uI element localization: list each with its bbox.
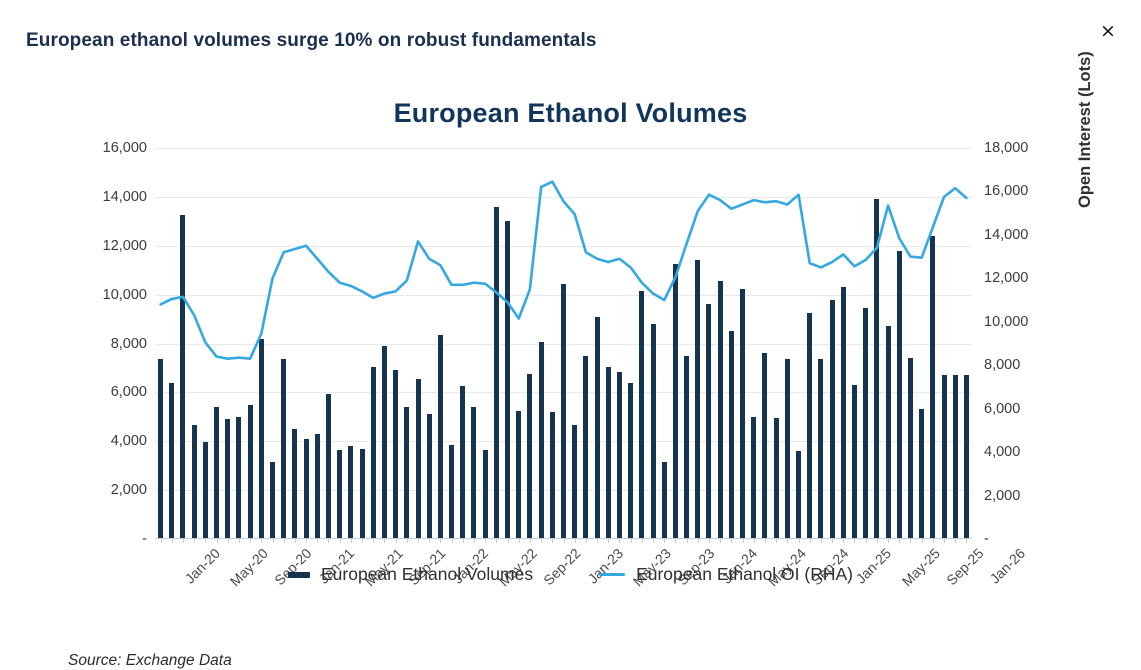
open-interest-line [161,182,967,359]
x-axis-tickmark [474,539,475,543]
y-axis-right-label: Open Interest (Lots) [1076,51,1095,208]
x-axis-tickmark [720,539,721,543]
x-axis-tickmark [564,539,565,543]
close-icon[interactable]: × [1095,18,1121,44]
y-axis-right-tick: 2,000 [984,489,1054,504]
y-axis-right-tick: 4,000 [984,445,1054,460]
x-axis-tickmark [866,539,867,543]
x-axis-tickmark [799,539,800,543]
x-axis-tickmark [362,539,363,543]
x-axis-tickmark [843,539,844,543]
source-note: Source: Exchange Data [68,652,232,670]
x-axis-tickmark [530,539,531,543]
x-axis-tickmark [664,539,665,543]
x-axis-tickmark [172,539,173,543]
x-axis-tickmark [396,539,397,543]
x-axis-tickmark [328,539,329,543]
y-axis-left-tick: 12,000 [77,239,147,254]
x-axis-tickmark [888,539,889,543]
legend-label-open-interest: European Ethanol OI (RHA) [636,564,853,585]
x-axis-tickmark [452,539,453,543]
chart-card: European Ethanol Volumes Total Volume Pe… [0,72,1141,632]
x-axis-tickmark [407,539,408,543]
legend-bar-swatch-icon [288,572,310,578]
popup-header: European ethanol volumes surge 10% on ro… [0,0,1141,72]
x-axis-tickmark [519,539,520,543]
x-axis-tickmark [508,539,509,543]
x-axis-tickmark [284,539,285,543]
x-axis-tickmark [899,539,900,543]
x-axis-tickmark [485,539,486,543]
y-axis-right-tick: 8,000 [984,358,1054,373]
x-axis-tickmark [743,539,744,543]
x-axis-tickmark [463,539,464,543]
x-axis-tickmark [373,539,374,543]
x-axis-tickmark [675,539,676,543]
y-axis-left-tick: 8,000 [77,337,147,352]
y-axis-left-tick: 2,000 [77,483,147,498]
x-axis-tickmark [228,539,229,543]
x-axis-tickmark [597,539,598,543]
x-axis-tickmark [631,539,632,543]
y-axis-right-tick: 12,000 [984,271,1054,286]
x-axis-tickmark [250,539,251,543]
x-axis-tickmark [429,539,430,543]
x-axis-tickmark [306,539,307,543]
x-axis-tickmark [183,539,184,543]
x-axis-tickmark [687,539,688,543]
x-axis-tickmark [496,539,497,543]
x-axis-tickmark [810,539,811,543]
x-axis-tickmark [709,539,710,543]
line-series [155,148,972,539]
y-axis-left-tick: 4,000 [77,434,147,449]
y-axis-right-tick: 14,000 [984,228,1054,243]
x-axis-tickmark [552,539,553,543]
y-axis-right-tick: 10,000 [984,315,1054,330]
x-axis-tickmark [608,539,609,543]
x-axis-tickmark [765,539,766,543]
chart-legend: European Ethanol Volumes European Ethano… [0,564,1141,585]
legend-line-swatch-icon [599,573,625,576]
y-axis-left-tick: 10,000 [77,288,147,303]
x-axis-tickmark [787,539,788,543]
x-axis-tickmark [575,539,576,543]
x-axis-tickmark [966,539,967,543]
legend-item-volumes[interactable]: European Ethanol Volumes [288,564,533,585]
x-axis-tickmark [295,539,296,543]
x-axis-tickmark [653,539,654,543]
x-axis-tickmark [933,539,934,543]
x-axis-tickmark [161,539,162,543]
page-title: European ethanol volumes surge 10% on ro… [26,30,597,52]
y-axis-left-tick: 14,000 [77,190,147,205]
x-axis-tickmark [340,539,341,543]
x-axis-tickmark [910,539,911,543]
x-axis-tickmark [317,539,318,543]
x-axis-tickmark [205,539,206,543]
x-axis-tickmark [541,539,542,543]
x-axis-tickmark [944,539,945,543]
y-axis-right-tick: 16,000 [984,184,1054,199]
x-axis-tickmark [922,539,923,543]
x-axis-tickmark [821,539,822,543]
x-axis-tickmark [698,539,699,543]
x-axis-tickmark [832,539,833,543]
y-axis-left-tick: 6,000 [77,385,147,400]
y-axis-right-tick: - [984,532,1054,547]
x-axis-tickmark [955,539,956,543]
plot-area [155,148,972,539]
legend-label-volumes: European Ethanol Volumes [321,564,533,585]
y-axis-left-tick: 16,000 [77,141,147,156]
x-axis-tickmark [239,539,240,543]
x-axis-tickmark [776,539,777,543]
x-axis-tickmark [877,539,878,543]
x-axis-tickmark [384,539,385,543]
x-axis-tickmark [586,539,587,543]
x-axis-tickmark [217,539,218,543]
y-axis-left-tick: - [77,532,147,547]
x-axis-tickmark [261,539,262,543]
x-axis-tickmark [273,539,274,543]
chart-plot-wrapper: Total Volume Per Month (Lots) Open Inter… [0,72,1141,632]
x-axis-tickmark [642,539,643,543]
x-axis-tickmark [440,539,441,543]
legend-item-open-interest[interactable]: European Ethanol OI (RHA) [599,564,853,585]
x-axis-tickmark [619,539,620,543]
x-axis-tickmark [754,539,755,543]
y-axis-right-tick: 6,000 [984,402,1054,417]
x-axis-tickmark [731,539,732,543]
y-axis-right-tick: 18,000 [984,141,1054,156]
x-axis-tickmark [194,539,195,543]
x-axis-tickmark [854,539,855,543]
x-axis-tickmark [418,539,419,543]
x-axis-tickmark [351,539,352,543]
